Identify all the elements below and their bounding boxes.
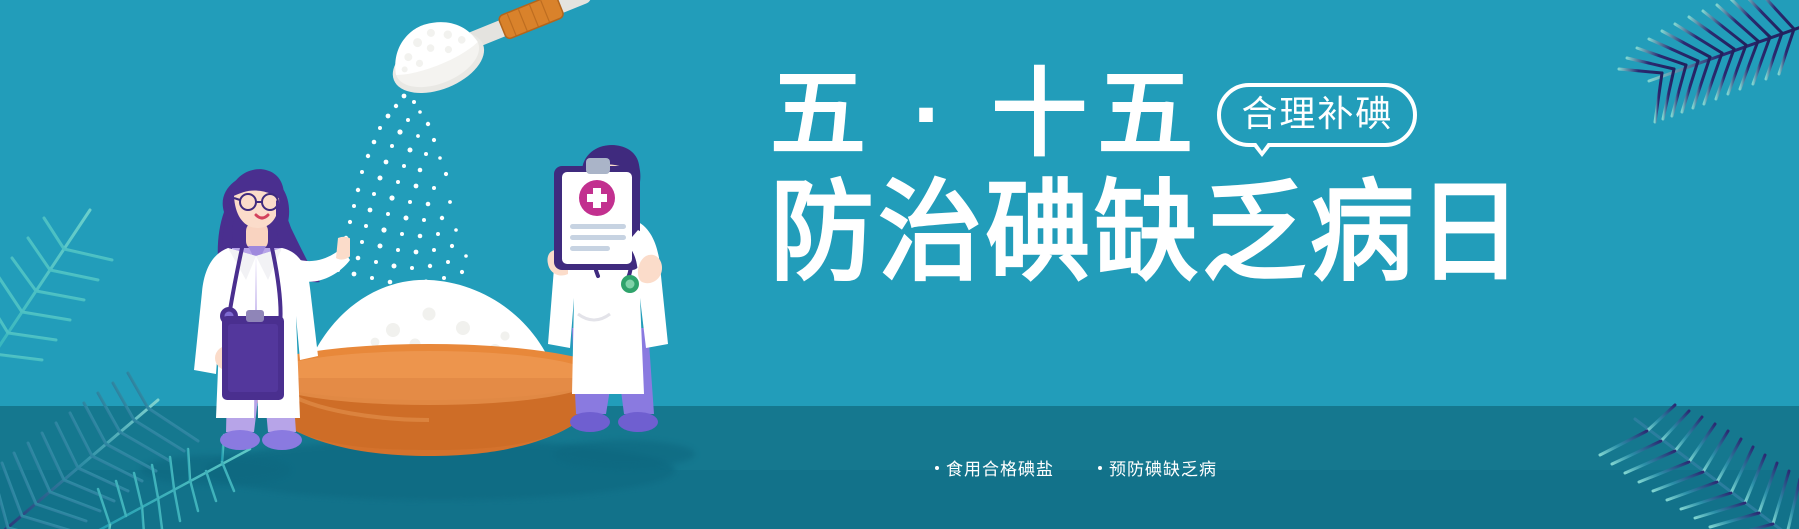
- page-title: 防治碘缺乏病日: [770, 174, 1430, 293]
- salt-spoon: [360, 0, 610, 105]
- date-title: 五 · 十五: [770, 65, 1203, 165]
- female-doctor: [150, 160, 350, 460]
- tagline-list: 食用合格碘盐 预防碘缺乏病: [935, 455, 1217, 480]
- badge-label: 合理补碘: [1241, 93, 1393, 134]
- tagline-label: 食用合格碘盐: [946, 455, 1054, 480]
- palm-frond-icon: [1589, 0, 1799, 136]
- banner-root: 五 · 十五 合理补碘 防治碘缺乏病日 食用合格碘盐 预防碘缺乏病: [0, 0, 1799, 529]
- headline-line-one: 五 · 十五 合理补碘: [770, 62, 1430, 168]
- bullet-dot-icon: [935, 466, 939, 470]
- tagline-label: 预防碘缺乏病: [1109, 455, 1217, 480]
- male-doctor: [520, 138, 695, 438]
- headline-block: 五 · 十五 合理补碘 防治碘缺乏病日: [770, 62, 1430, 286]
- palm-frond-icon: [0, 190, 140, 380]
- bullet-dot-icon: [1098, 466, 1102, 470]
- tagline-item: 预防碘缺乏病: [1098, 455, 1217, 480]
- badge-bubble: 合理补碘: [1217, 83, 1417, 147]
- tagline-item: 食用合格碘盐: [935, 455, 1054, 480]
